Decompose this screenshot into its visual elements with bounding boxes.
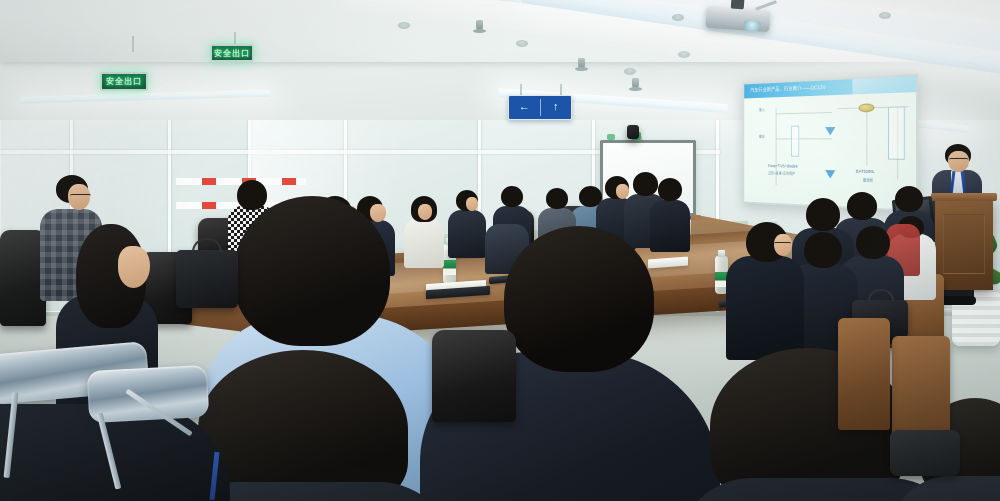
attendee-hair [847, 192, 877, 220]
slide-label-left: Fuse+TVS+diodes [768, 163, 798, 170]
attendee-hair [806, 198, 840, 231]
podium-front-panel [943, 214, 985, 274]
bottle-label [443, 260, 456, 275]
attendee-hair [856, 226, 890, 259]
recessed-downlight-6 [624, 68, 636, 75]
attendee-hair [198, 350, 408, 501]
slide-wire-h2 [776, 138, 832, 139]
presenter-glasses [949, 158, 968, 162]
slide-arrow-1 [825, 127, 835, 136]
slide-label-left-sub: 过压+浪涌+反向保护 [768, 172, 795, 178]
chrome-chair-2[interactable] [87, 365, 210, 423]
slide-label-output: 输出 [759, 135, 765, 140]
slide-component-mosfet [859, 103, 875, 112]
chair-wood-foreground-2[interactable] [838, 318, 890, 430]
slide-block-2 [888, 106, 905, 159]
presentation-slide: 汽车行业新产品、行业推介——DC12V Fuse+TVS+diodes 过压+浪… [744, 76, 916, 210]
attendee-face [418, 204, 432, 220]
recessed-downlight-2 [516, 40, 528, 47]
attendee-torso [726, 256, 804, 360]
attendee-torso [448, 210, 486, 258]
fire-sprinkler-2 [578, 58, 585, 70]
slide-label-right: BAT5200L [856, 169, 875, 176]
backpack-left[interactable] [176, 250, 238, 308]
attendee-face [370, 204, 386, 222]
direction-sign-left-arrow: ← [509, 102, 540, 113]
exit-sign-hanger-left [132, 36, 134, 52]
podium [935, 198, 993, 290]
attendee-glasses [774, 242, 791, 246]
attendee-face [616, 184, 629, 199]
attendee-hair [237, 180, 267, 210]
projector-mount [731, 0, 745, 9]
recessed-downlight-1 [398, 22, 410, 29]
exit-sign-right: 安全出口 [210, 44, 254, 62]
direction-sign: ← ↑ [508, 95, 572, 120]
slide-wire-h1 [776, 112, 832, 114]
fire-sprinkler-1 [476, 20, 483, 32]
attendee-hair [658, 178, 682, 201]
bag-right-floor[interactable] [890, 430, 960, 476]
attendee-hair [504, 226, 654, 372]
attendee-face [466, 197, 478, 211]
slide-arrow-2 [825, 170, 835, 179]
exit-sign-left-text: 安全出口 [106, 76, 142, 87]
attendee-glasses [70, 194, 91, 198]
direction-sign-right-arrow: ↑ [541, 102, 572, 113]
attendee-hair [234, 196, 390, 346]
recessed-downlight-3 [672, 14, 684, 21]
recessed-downlight-4 [678, 51, 690, 58]
slide-label-input: 输入 [759, 108, 765, 113]
attendee-hair [546, 188, 568, 209]
recessed-downlight-5 [879, 12, 891, 19]
podium-top [931, 193, 997, 201]
slide-label-right-sub: 整流桥 [863, 179, 873, 185]
projection-screen: 汽车行业新产品、行业推介——DC12V Fuse+TVS+diodes 过压+浪… [743, 74, 918, 212]
attendee-hair [895, 186, 923, 212]
ceiling-projector [705, 6, 770, 32]
attendee-torso [404, 218, 444, 268]
conference-room-photo: 安全出口 安全出口 ← ↑ 汽车行业新产品、行业推介——DC12V [0, 0, 1000, 501]
bottle-cap [718, 250, 725, 257]
attendee-hair [804, 232, 842, 268]
attendee-hair [633, 172, 658, 196]
projector-lens [743, 20, 761, 31]
exit-sign-left: 安全出口 [100, 72, 148, 91]
dark-object-on-cabinet [627, 125, 639, 139]
attendee-hair [501, 186, 523, 207]
green-tape-marker-2 [607, 134, 615, 140]
fire-sprinkler-3 [632, 78, 639, 90]
slide-wire-v2 [866, 107, 867, 165]
attendee-torso [650, 200, 690, 252]
chair-dark-foreground[interactable] [432, 330, 516, 422]
exit-sign-right-text: 安全出口 [214, 48, 250, 59]
slide-block-1 [791, 126, 799, 157]
